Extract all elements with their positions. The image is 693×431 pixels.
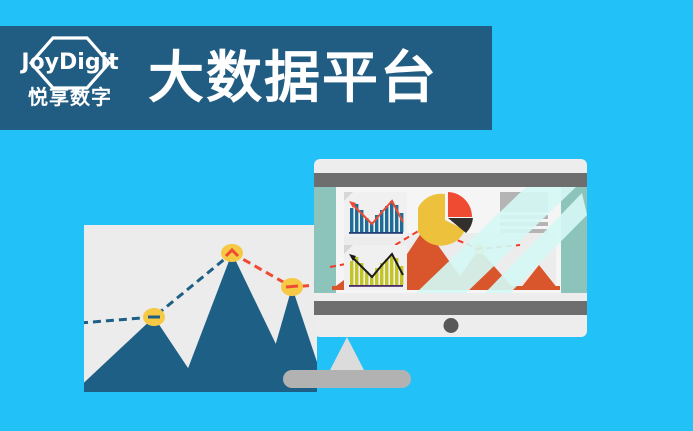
trend-marker: [221, 244, 243, 262]
bar-chart-card-olive[interactable]: [344, 245, 407, 290]
monitor-screen: [314, 187, 587, 293]
text-line: [500, 222, 548, 226]
monitor-top-bezel: [314, 173, 587, 187]
page-title: 大数据平台: [148, 50, 438, 106]
brand-logo: JoyDigit 悦享数字: [14, 33, 126, 123]
content-placeholder: [500, 192, 548, 233]
image-placeholder: [500, 192, 548, 212]
monitor-stand-neck: [329, 337, 365, 372]
monitor-stand-base: [283, 370, 411, 388]
text-line: [500, 215, 548, 219]
header-banner: JoyDigit 悦享数字 大数据平台: [0, 26, 492, 130]
page-fold-icon: [344, 192, 353, 201]
page-fold-icon: [344, 245, 353, 254]
poster-canvas: JoyDigit 悦享数字 大数据平台: [0, 0, 693, 431]
pie-chart[interactable]: [418, 191, 475, 248]
desktop-monitor: [314, 159, 587, 337]
mountain-trend-panel: [84, 225, 317, 392]
logo-wordmark: JoyDigit: [21, 52, 118, 74]
logo-subtitle: 悦享数字: [28, 88, 112, 108]
bar-chart-card-blue[interactable]: [344, 192, 407, 237]
pie-slice-red: [448, 192, 472, 217]
webcam-icon: [443, 318, 458, 333]
monitor-bottom-bezel: [314, 301, 587, 315]
mountain-baseline: [84, 385, 317, 392]
text-line: [500, 229, 548, 233]
